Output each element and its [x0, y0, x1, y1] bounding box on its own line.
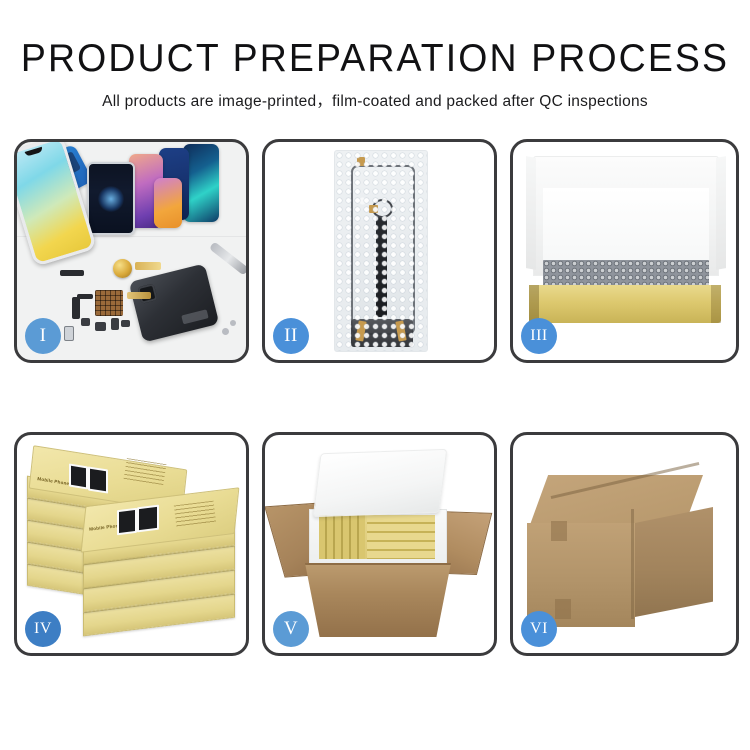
component-part	[64, 326, 74, 341]
carton-body	[305, 563, 451, 637]
panel-inner-box-packing: III	[510, 139, 739, 363]
inner-yellow-boxes	[319, 515, 435, 559]
gold-phone-icon	[154, 178, 182, 228]
step-badge-label: VI	[530, 620, 548, 638]
box-window	[69, 463, 88, 489]
screw-icon	[222, 328, 229, 335]
step-badge-label: II	[284, 325, 298, 347]
page-title: PRODUCT PREPARATION PROCESS	[15, 38, 735, 80]
panel-sealed-shipping-carton: VI	[510, 432, 739, 656]
foam-sheet	[543, 188, 709, 260]
step-badge-label: I	[40, 325, 47, 347]
screwdriver-icon	[209, 241, 246, 275]
screw-icon	[230, 320, 236, 326]
product-preparation-infographic: PRODUCT PREPARATION PROCESS All products…	[0, 0, 750, 750]
flex-cable-icon	[135, 262, 161, 270]
panel-stacked-retail-boxes: Mobile Phone Spare Parts Mobile Phone Sp…	[14, 432, 249, 656]
process-step-grid: I II	[14, 139, 736, 656]
component-part	[81, 318, 90, 326]
iphone-display-icon	[17, 142, 97, 267]
chip-grid-icon	[95, 290, 123, 316]
step-badge-1: I	[25, 318, 61, 354]
box-window	[117, 508, 137, 535]
foam-lid	[313, 449, 448, 517]
step-badge-label: V	[284, 618, 298, 640]
component-part	[95, 322, 106, 331]
small-part-bar	[72, 297, 80, 319]
step-badge-6: VI	[521, 611, 557, 647]
step-badge-3: III	[521, 318, 557, 354]
carton-tape-patch	[555, 599, 571, 619]
bubble-texture	[335, 151, 427, 351]
small-part-bar	[60, 270, 84, 276]
step-badge-label: III	[530, 327, 547, 345]
carton-edge	[631, 509, 634, 619]
flex-cable-icon	[127, 292, 151, 299]
panel-bubble-wrapped-part: II	[262, 139, 497, 363]
panel-components-overview: I	[14, 139, 249, 363]
small-part-bar	[77, 294, 93, 299]
page-subtitle: All products are image-printed，film-coat…	[0, 89, 750, 111]
step-badge-2: II	[273, 318, 309, 354]
box-window	[88, 466, 108, 493]
bubble-wrap-insert	[543, 260, 709, 286]
component-part	[121, 320, 130, 327]
box-window	[137, 505, 159, 533]
carton-side-panel	[635, 507, 713, 617]
panel-foam-carton-packing: V	[262, 432, 497, 656]
carton-tape-patch	[551, 521, 567, 541]
bubble-wrap-bag	[334, 150, 428, 352]
gold-connector-icon	[113, 259, 132, 278]
header: PRODUCT PREPARATION PROCESS All products…	[0, 0, 750, 111]
kraft-box-tray	[529, 285, 721, 323]
component-part	[111, 318, 119, 330]
step-badge-5: V	[273, 611, 309, 647]
step-badge-label: IV	[34, 620, 52, 638]
screen-protector-icon	[87, 162, 135, 235]
phone-back-cover-icon	[129, 263, 220, 342]
step-badge-4: IV	[25, 611, 61, 647]
